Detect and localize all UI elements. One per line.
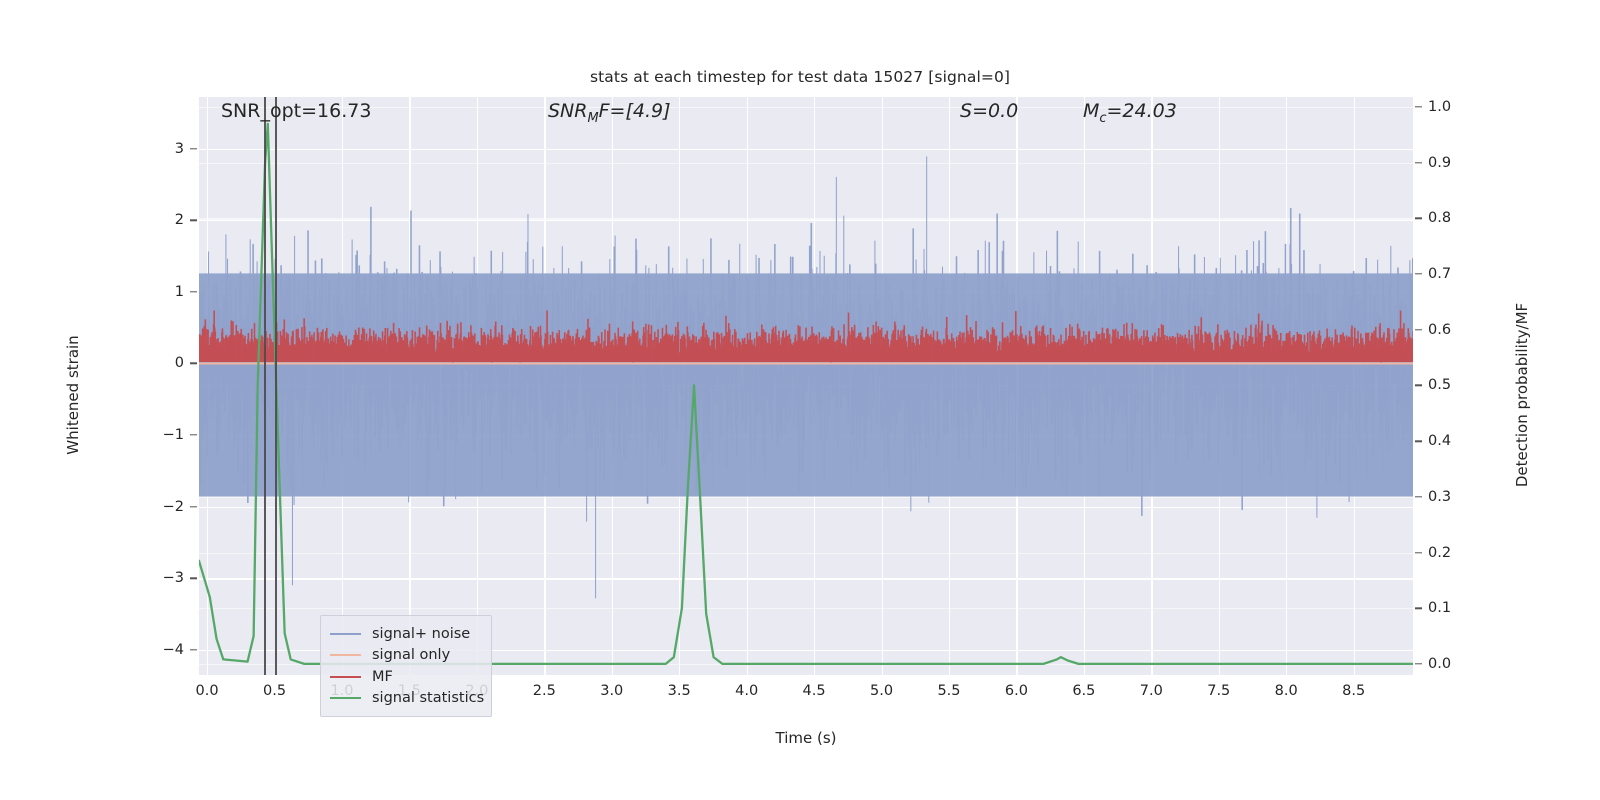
- merger-time-marker: [275, 97, 277, 675]
- y-tick-mark-right: [1415, 385, 1422, 386]
- y-tick-mark-right: [1415, 218, 1422, 219]
- y-tick-mark-left: [190, 578, 197, 579]
- annotation-s-stat: S=0.0: [960, 100, 1018, 122]
- y-tick-mark-right: [1415, 496, 1422, 497]
- x-tick-label: 6.5: [1072, 683, 1095, 699]
- x-tick-label: 7.0: [1140, 683, 1163, 699]
- series-layer: [199, 97, 1413, 675]
- y-tick-mark-right: [1415, 552, 1422, 553]
- x-tick-label: 5.0: [870, 683, 893, 699]
- x-tick-label: 8.0: [1275, 683, 1298, 699]
- x-tick-label: 7.5: [1207, 683, 1230, 699]
- merger-time-marker: [264, 97, 266, 675]
- y-axis-label-right: Detection probability/MF: [1513, 240, 1531, 550]
- y-tick-label-right: 0.0: [1428, 656, 1451, 672]
- x-tick-label: 3.0: [600, 683, 623, 699]
- annotation-snr-opt: SNR_opt=16.73: [221, 100, 371, 122]
- y-tick-label-right: 0.2: [1428, 545, 1451, 561]
- figure-canvas: stats at each timestep for test data 150…: [0, 0, 1600, 800]
- annotation-chirp-mass: Mc=24.03: [1083, 100, 1177, 126]
- y-tick-label-right: 0.3: [1428, 489, 1451, 505]
- x-tick-label: 4.5: [803, 683, 826, 699]
- legend-swatch-icon: [330, 697, 361, 699]
- x-tick-label: 0.0: [196, 683, 219, 699]
- annotation-snr-mf: SNRMF=[4.9]: [548, 100, 671, 126]
- y-tick-mark-left: [190, 219, 197, 220]
- x-tick-label: 2.5: [533, 683, 556, 699]
- legend-label: signal statistics: [372, 690, 484, 706]
- legend-item-signal-noise[interactable]: signal+ noise: [330, 623, 482, 645]
- y-tick-label-right: 0.5: [1428, 377, 1451, 393]
- x-tick-label: 6.0: [1005, 683, 1028, 699]
- y-tick-mark-left: [190, 148, 197, 149]
- y-tick-label-right: 0.8: [1428, 210, 1451, 226]
- y-tick-label-right: 1.0: [1428, 99, 1451, 115]
- y-tick-mark-left: [190, 434, 197, 435]
- y-tick-label-right: 0.9: [1428, 155, 1451, 171]
- legend-swatch-icon: [330, 676, 361, 678]
- y-tick-label-left: 1: [175, 284, 184, 300]
- y-tick-mark-right: [1415, 607, 1422, 608]
- y-axis-label-left: Whitened strain: [64, 265, 82, 525]
- legend[interactable]: signal+ noisesignal onlyMFsignal statist…: [320, 615, 492, 717]
- y-tick-label-left: −3: [163, 570, 184, 586]
- y-tick-label-right: 0.4: [1428, 433, 1451, 449]
- legend-item-mf[interactable]: MF: [330, 666, 482, 688]
- legend-label: signal only: [372, 647, 450, 663]
- y-tick-mark-left: [190, 291, 197, 292]
- y-tick-mark-right: [1415, 440, 1422, 441]
- y-tick-label-left: −4: [163, 642, 184, 658]
- y-tick-label-left: 2: [175, 212, 184, 228]
- x-tick-label: 5.5: [937, 683, 960, 699]
- y-tick-label-left: 3: [175, 141, 184, 157]
- series-signal-plus-noise: [199, 156, 1413, 598]
- x-tick-label: 0.5: [263, 683, 286, 699]
- y-tick-mark-right: [1415, 329, 1422, 330]
- legend-swatch-icon: [330, 654, 361, 656]
- y-tick-mark-right: [1415, 663, 1422, 664]
- y-tick-label-left: −1: [163, 427, 184, 443]
- x-tick-label: 8.5: [1342, 683, 1365, 699]
- legend-label: signal+ noise: [372, 626, 470, 642]
- y-tick-mark-right: [1415, 106, 1422, 107]
- y-tick-mark-left: [190, 363, 197, 364]
- x-tick-label: 4.0: [735, 683, 758, 699]
- plot-area: [199, 97, 1413, 675]
- y-tick-mark-right: [1415, 162, 1422, 163]
- legend-label: MF: [372, 669, 393, 685]
- y-tick-label-right: 0.6: [1428, 322, 1451, 338]
- legend-item-signal-statistics[interactable]: signal statistics: [330, 688, 482, 710]
- x-tick-label: 3.5: [668, 683, 691, 699]
- y-tick-label-left: −2: [163, 499, 184, 515]
- y-tick-mark-left: [190, 506, 197, 507]
- legend-item-signal-only[interactable]: signal only: [330, 645, 482, 667]
- y-tick-mark-left: [190, 649, 197, 650]
- y-tick-label-right: 0.1: [1428, 600, 1451, 616]
- page-title: stats at each timestep for test data 150…: [0, 68, 1600, 86]
- y-tick-label-left: 0: [175, 355, 184, 371]
- x-axis-label: Time (s): [199, 729, 1413, 747]
- legend-swatch-icon: [330, 633, 361, 635]
- y-tick-label-right: 0.7: [1428, 266, 1451, 282]
- y-tick-mark-right: [1415, 273, 1422, 274]
